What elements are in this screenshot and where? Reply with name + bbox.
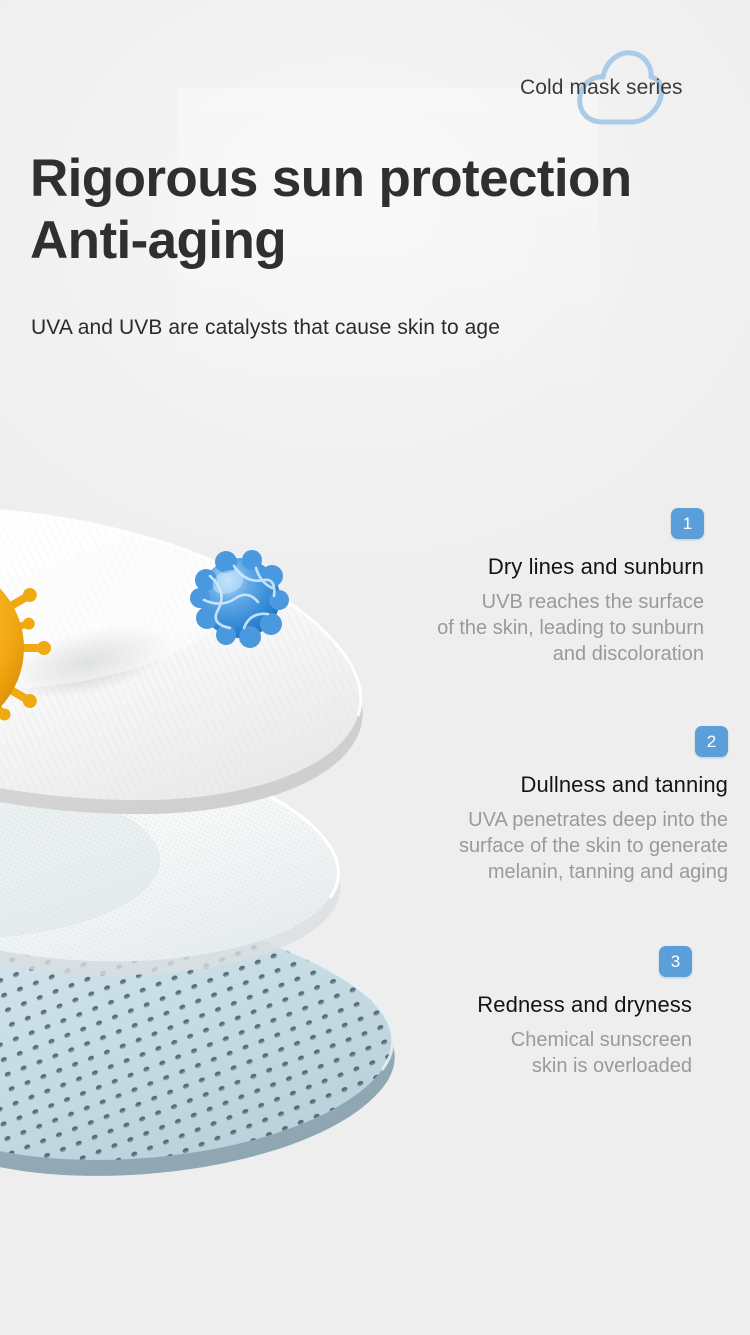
feature-item-2: 2 Dullness and tanning UVA penetrates de… xyxy=(330,726,728,885)
feature-desc-line: and discoloration xyxy=(330,641,704,667)
feature-desc-line: skin is overloaded xyxy=(330,1053,692,1079)
feature-desc-line: surface of the skin to generate xyxy=(330,833,728,859)
page-title: Rigorous sun protection Anti-aging xyxy=(30,148,720,272)
promo-page: Cold mask series Rigorous sun protection… xyxy=(0,0,750,1335)
feature-description-3: Chemical sunscreen skin is overloaded xyxy=(330,1027,692,1079)
feature-desc-line: UVA penetrates deep into the xyxy=(330,807,728,833)
feature-description-2: UVA penetrates deep into the surface of … xyxy=(330,807,728,885)
feature-item-1: 1 Dry lines and sunburn UVB reaches the … xyxy=(330,508,704,667)
page-title-line-2: Anti-aging xyxy=(30,210,720,272)
feature-desc-line: UVB reaches the surface xyxy=(330,589,704,615)
feature-desc-line: melanin, tanning and aging xyxy=(330,859,728,885)
page-title-line-1: Rigorous sun protection xyxy=(30,148,720,210)
series-label: Cold mask series xyxy=(520,76,683,100)
feature-title-3: Redness and dryness xyxy=(330,992,692,1018)
feature-item-3: 3 Redness and dryness Chemical sunscreen… xyxy=(330,946,692,1079)
feature-title-1: Dry lines and sunburn xyxy=(330,554,704,580)
page-subtitle: UVA and UVB are catalysts that cause ski… xyxy=(31,316,500,340)
feature-desc-line: of the skin, leading to sunburn xyxy=(330,615,704,641)
feature-badge-3: 3 xyxy=(659,946,692,977)
feature-desc-line: Chemical sunscreen xyxy=(330,1027,692,1053)
feature-description-1: UVB reaches the surface of the skin, lea… xyxy=(330,589,704,667)
feature-badge-2: 2 xyxy=(695,726,728,757)
feature-title-2: Dullness and tanning xyxy=(330,772,728,798)
feature-badge-1: 1 xyxy=(671,508,704,539)
